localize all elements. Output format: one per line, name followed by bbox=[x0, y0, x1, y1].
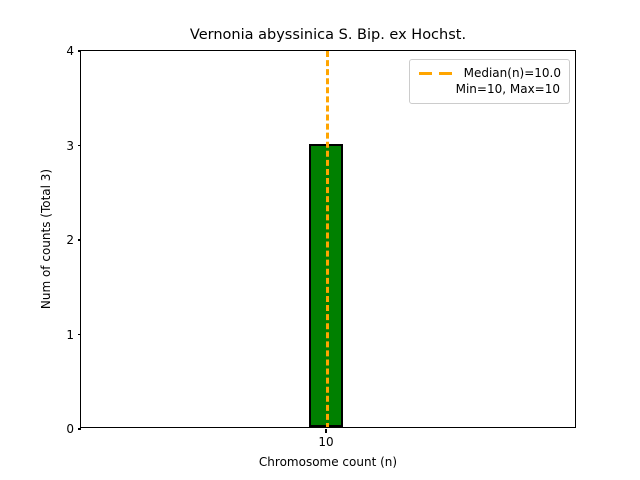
y-tick-mark bbox=[78, 334, 82, 335]
chart-title: Vernonia abyssinica S. Bip. ex Hochst. bbox=[80, 27, 576, 43]
x-tick-mark bbox=[325, 429, 326, 433]
y-tick-mark bbox=[78, 239, 82, 240]
legend-label-range: Min=10, Max=10 bbox=[418, 81, 561, 97]
y-tick-label: 3 bbox=[66, 138, 74, 154]
y-tick-label: 0 bbox=[66, 421, 74, 437]
y-tick-label: 1 bbox=[66, 327, 74, 343]
x-axis-label: Chromosome count (n) bbox=[80, 455, 576, 469]
legend-entry-median: Median(n)=10.0 bbox=[418, 65, 561, 81]
y-tick-label: 4 bbox=[66, 43, 74, 59]
y-tick-label: 2 bbox=[66, 232, 74, 248]
plot-area bbox=[81, 51, 575, 427]
y-tick-mark bbox=[78, 428, 82, 429]
dashed-line-icon bbox=[418, 67, 456, 79]
x-tick-label: 10 bbox=[286, 435, 366, 449]
chart-figure: Vernonia abyssinica S. Bip. ex Hochst. 0… bbox=[0, 0, 640, 480]
y-tick-mark bbox=[78, 50, 82, 51]
median-line bbox=[326, 51, 329, 427]
legend-label-median: Median(n)=10.0 bbox=[464, 65, 561, 81]
y-tick-mark bbox=[78, 145, 82, 146]
y-axis-label-text: Num of counts (Total 3) bbox=[39, 169, 53, 309]
plot-axes: 0 1 2 3 4 10 Median bbox=[80, 50, 576, 428]
chart-legend: Median(n)=10.0 Min=10, Max=10 bbox=[409, 59, 570, 104]
